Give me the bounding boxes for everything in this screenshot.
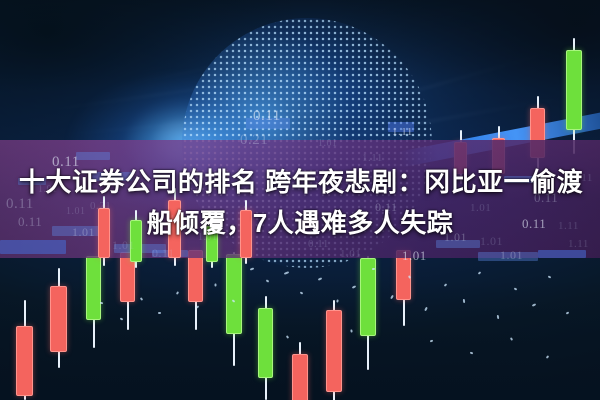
sparkle-particle — [336, 299, 339, 302]
sparkle-particle — [350, 329, 352, 332]
banner-image: 0.110.110.111.011.010.211.011.010.110.21… — [0, 0, 600, 400]
sparkle-particle — [372, 268, 375, 270]
headline-text: 十大证券公司的排名 跨年夜悲剧：冈比亚一偷渡 船倾覆，7人遇难多人失踪 — [0, 162, 600, 244]
sparkle-particle — [266, 279, 270, 282]
sparkle-particle — [478, 271, 482, 275]
sparkle-particle — [514, 287, 518, 290]
sparkle-particle — [176, 291, 179, 295]
sparkle-particle — [232, 299, 236, 302]
sparkle-particle — [390, 295, 394, 299]
sparkle-particle — [470, 352, 474, 355]
sparkle-particle — [532, 303, 536, 307]
sparkle-particle — [140, 297, 143, 301]
sparkle-particle — [286, 335, 289, 339]
headline-line-2: 船倾覆，7人遇难多人失踪 — [0, 203, 600, 244]
sparkle-particle — [408, 275, 411, 279]
sparkle-particle — [546, 355, 549, 359]
sparkle-particle — [120, 317, 124, 320]
sparkle-particle — [444, 283, 448, 286]
headline-line-1: 十大证券公司的排名 跨年夜悲剧：冈比亚一偷渡 — [0, 162, 600, 203]
sparkle-particle — [352, 285, 356, 289]
sparkle-particle — [463, 299, 465, 303]
sparkle-particle — [196, 305, 200, 308]
sparkle-particle — [510, 337, 513, 341]
sparkle-particle — [100, 302, 103, 304]
sparkle-particle — [566, 311, 570, 314]
sparkle-particle — [250, 267, 254, 270]
sparkle-particle — [300, 291, 304, 294]
sparkle-particle — [424, 307, 428, 311]
sparkle-particle — [158, 312, 161, 314]
sparkle-particle — [497, 315, 500, 319]
sparkle-particle — [284, 271, 289, 275]
sparkle-particle — [318, 277, 322, 280]
sparkle-particle — [548, 275, 552, 278]
sparkle-particle — [430, 340, 434, 343]
sparkle-particle — [214, 283, 216, 286]
